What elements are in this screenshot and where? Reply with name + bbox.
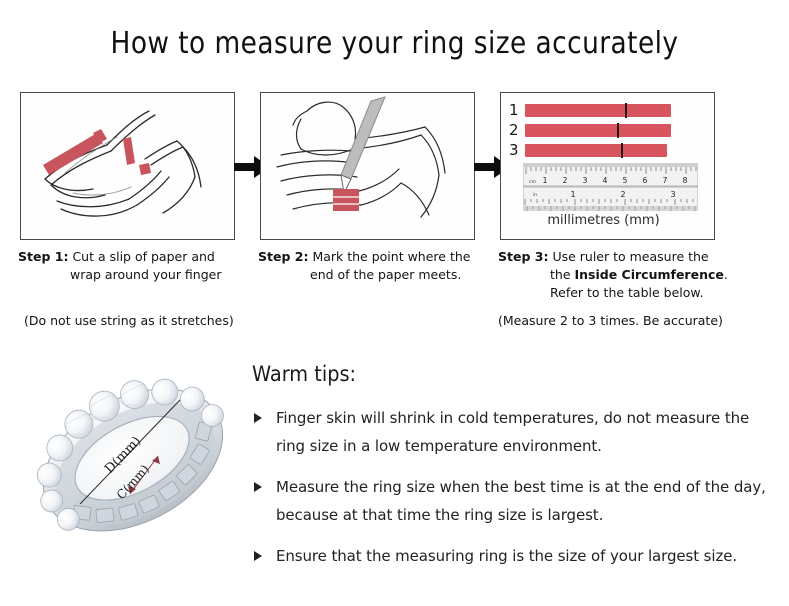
strip-bar [525,124,671,137]
step-3-line2-strong: Inside Circumference [575,267,724,282]
svg-text:7: 7 [663,176,668,185]
step-panels: 1 2 3 1 2 3 4 5 [20,92,769,240]
svg-text:5: 5 [623,176,628,185]
strip-number: 3 [509,143,525,158]
tip-text: Ensure that the measuring ring is the si… [276,547,737,565]
step-3-note: (Measure 2 to 3 times. Be accurate) [498,313,723,328]
strip-number: 2 [509,123,525,138]
svg-text:6: 6 [643,176,648,185]
step-3-caption: Step 3: Use ruler to measure the the Ins… [498,248,763,302]
strip-row: 3 [509,141,709,159]
strip-row: 2 [509,121,709,139]
step-3-line2: the Inside Circumference. [498,266,763,284]
svg-text:2: 2 [620,190,625,199]
ruler-unit-caption: millimetres (mm) [501,213,706,228]
tip-item: Finger skin will shrink in cold temperat… [252,404,776,460]
step-2-line1: Mark the point where the [312,249,470,264]
step-1-note: (Do not use string as it stretches) [24,313,234,328]
svg-text:3: 3 [670,190,675,199]
strip-row: 1 [509,101,709,119]
warm-tips-heading: Warm tips: [252,362,734,386]
svg-text:in: in [533,192,537,198]
step-1-lead: Step 1: [18,249,68,264]
svg-text:1: 1 [570,190,575,199]
strip-bar [525,104,671,117]
ring-photo: D(mm) C(mm) [18,352,248,574]
measured-strips: 1 2 3 [509,101,709,161]
hand-with-paper-strip-icon [21,93,234,239]
step-1-line2: wrap around your finger [18,266,253,284]
step-3-line2-prefix: the [550,267,575,282]
triangle-bullet-icon [254,551,262,561]
step-3-line2-suffix: . [724,267,728,282]
tip-text: Measure the ring size when the best time… [276,478,766,524]
step-1-caption: Step 1: Cut a slip of paper and wrap aro… [18,248,253,284]
step-3-panel: 1 2 3 1 2 3 4 5 [500,92,715,240]
svg-text:8: 8 [683,176,688,185]
svg-text:cm: cm [529,180,536,185]
hand-marking-strip-icon [261,93,474,239]
step-3-line1: Use ruler to measure the [552,249,708,264]
tip-text: Finger skin will shrink in cold temperat… [276,409,749,455]
strip-bar [525,144,667,157]
warm-tips-section: Warm tips: Finger skin will shrink in co… [252,362,776,583]
page-title: How to measure your ring size accurately [47,26,741,61]
svg-text:1: 1 [543,176,548,185]
triangle-bullet-icon [254,413,262,423]
step-2-lead: Step 2: [258,249,308,264]
tip-item: Ensure that the measuring ring is the si… [252,542,776,570]
step-2-panel [260,92,475,240]
step-3-line3: Refer to the table below. [498,284,763,302]
paper-strip-shape-2 [333,189,359,211]
triangle-bullet-icon [254,482,262,492]
svg-text:2: 2 [563,176,568,185]
ruler-icon: 1 2 3 4 5 6 7 8 cm 1 2 3 in [523,163,698,211]
svg-text:3: 3 [583,176,588,185]
step-3-lead: Step 3: [498,249,548,264]
step-1-line1: Cut a slip of paper and [72,249,214,264]
tip-item: Measure the ring size when the best time… [252,473,776,529]
step-2-caption: Step 2: Mark the point where the end of … [258,248,493,284]
svg-text:4: 4 [603,176,608,185]
step-2-line2: end of the paper meets. [258,266,493,284]
strip-number: 1 [509,103,525,118]
step-1-panel [20,92,235,240]
